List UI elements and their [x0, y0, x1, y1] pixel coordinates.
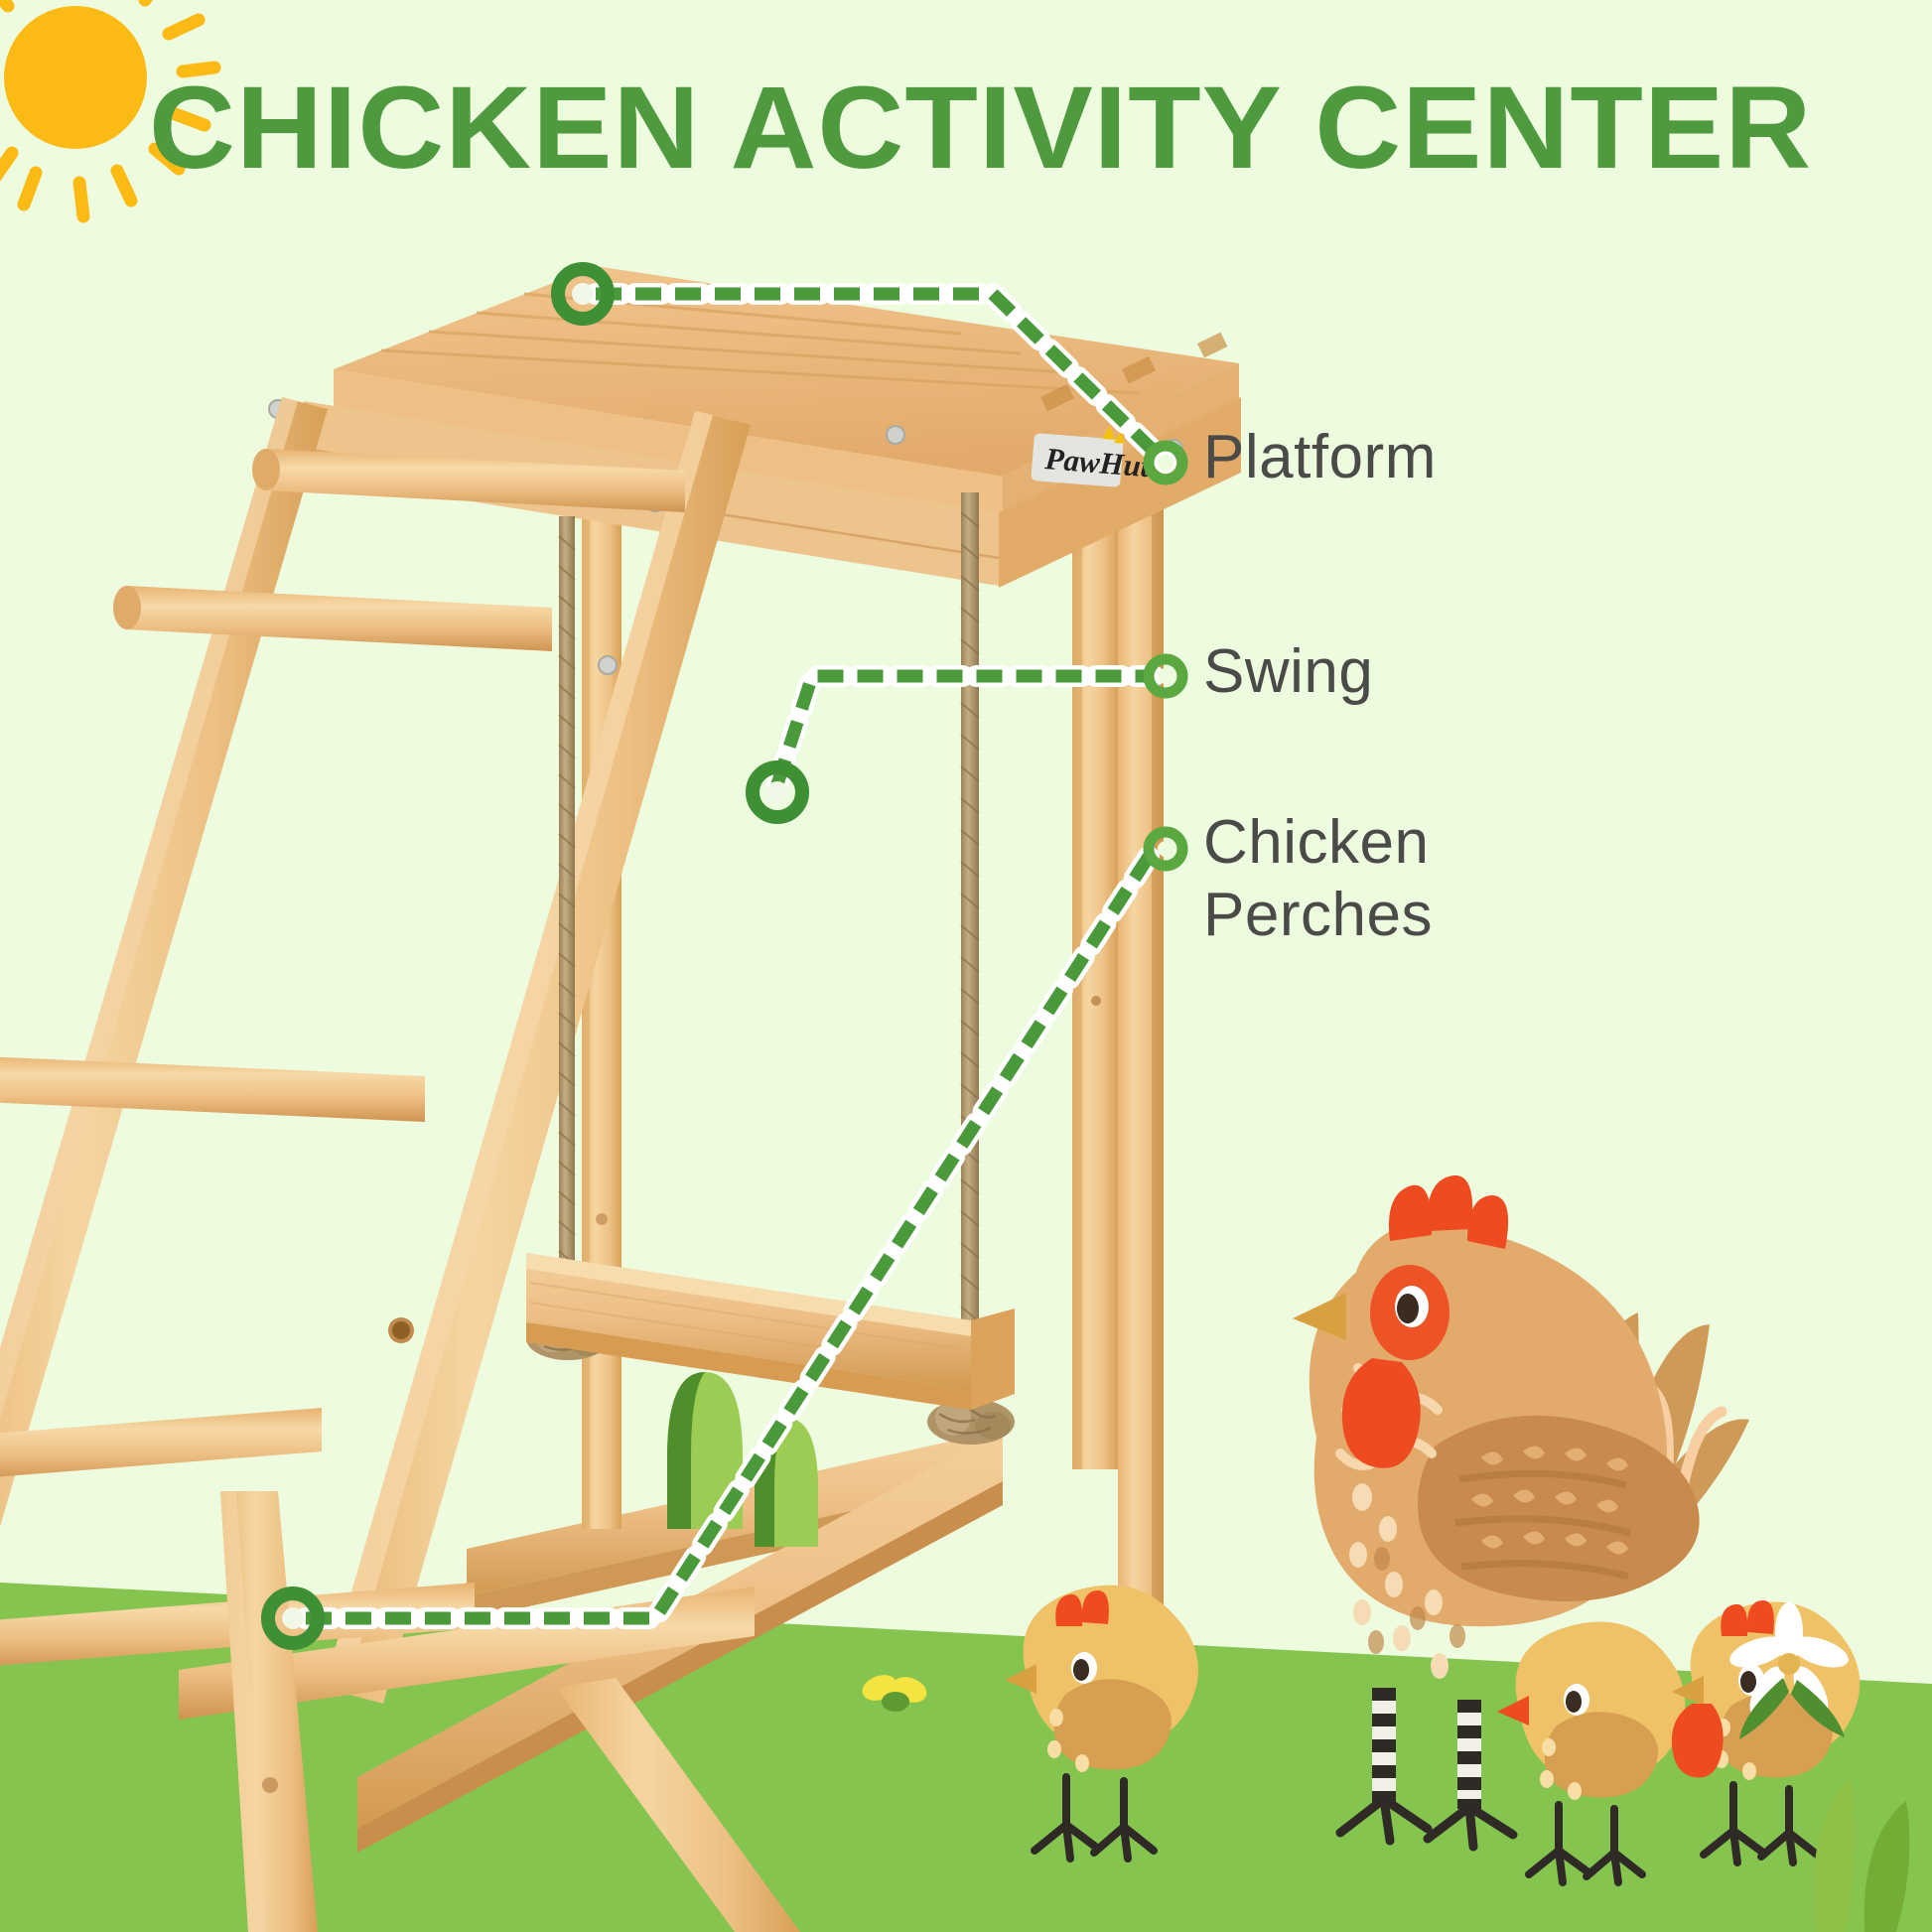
- perch-rung-2: [113, 586, 552, 651]
- swing-rope-right: [961, 492, 979, 1400]
- ladder-perch-rails: [0, 397, 751, 1704]
- yellow-flower: [859, 1671, 930, 1712]
- support-leg-bottom-diagonal: [556, 1678, 800, 1932]
- product-illustration: PawHut: [0, 0, 1932, 1932]
- perch-rung-3: [0, 1054, 425, 1122]
- support-post-right-rear: [1072, 377, 1118, 1612]
- grass-tufts: [667, 1372, 818, 1547]
- page-title: CHICKEN ACTIVITY CENTER: [149, 69, 1812, 187]
- infographic-canvas: PawHut: [0, 0, 1932, 1932]
- callout-label-swing: Swing: [1203, 635, 1373, 708]
- callout-label-platform: Platform: [1203, 421, 1437, 493]
- support-post-right-front: [1118, 385, 1164, 1734]
- perch-rung-4: [0, 1408, 322, 1481]
- platform-top: [269, 266, 1241, 588]
- support-leg-left-front: [220, 1491, 318, 1932]
- callout-label-chicken-perches: Chicken Perches: [1203, 806, 1433, 951]
- swing-rope-left: [559, 516, 575, 1281]
